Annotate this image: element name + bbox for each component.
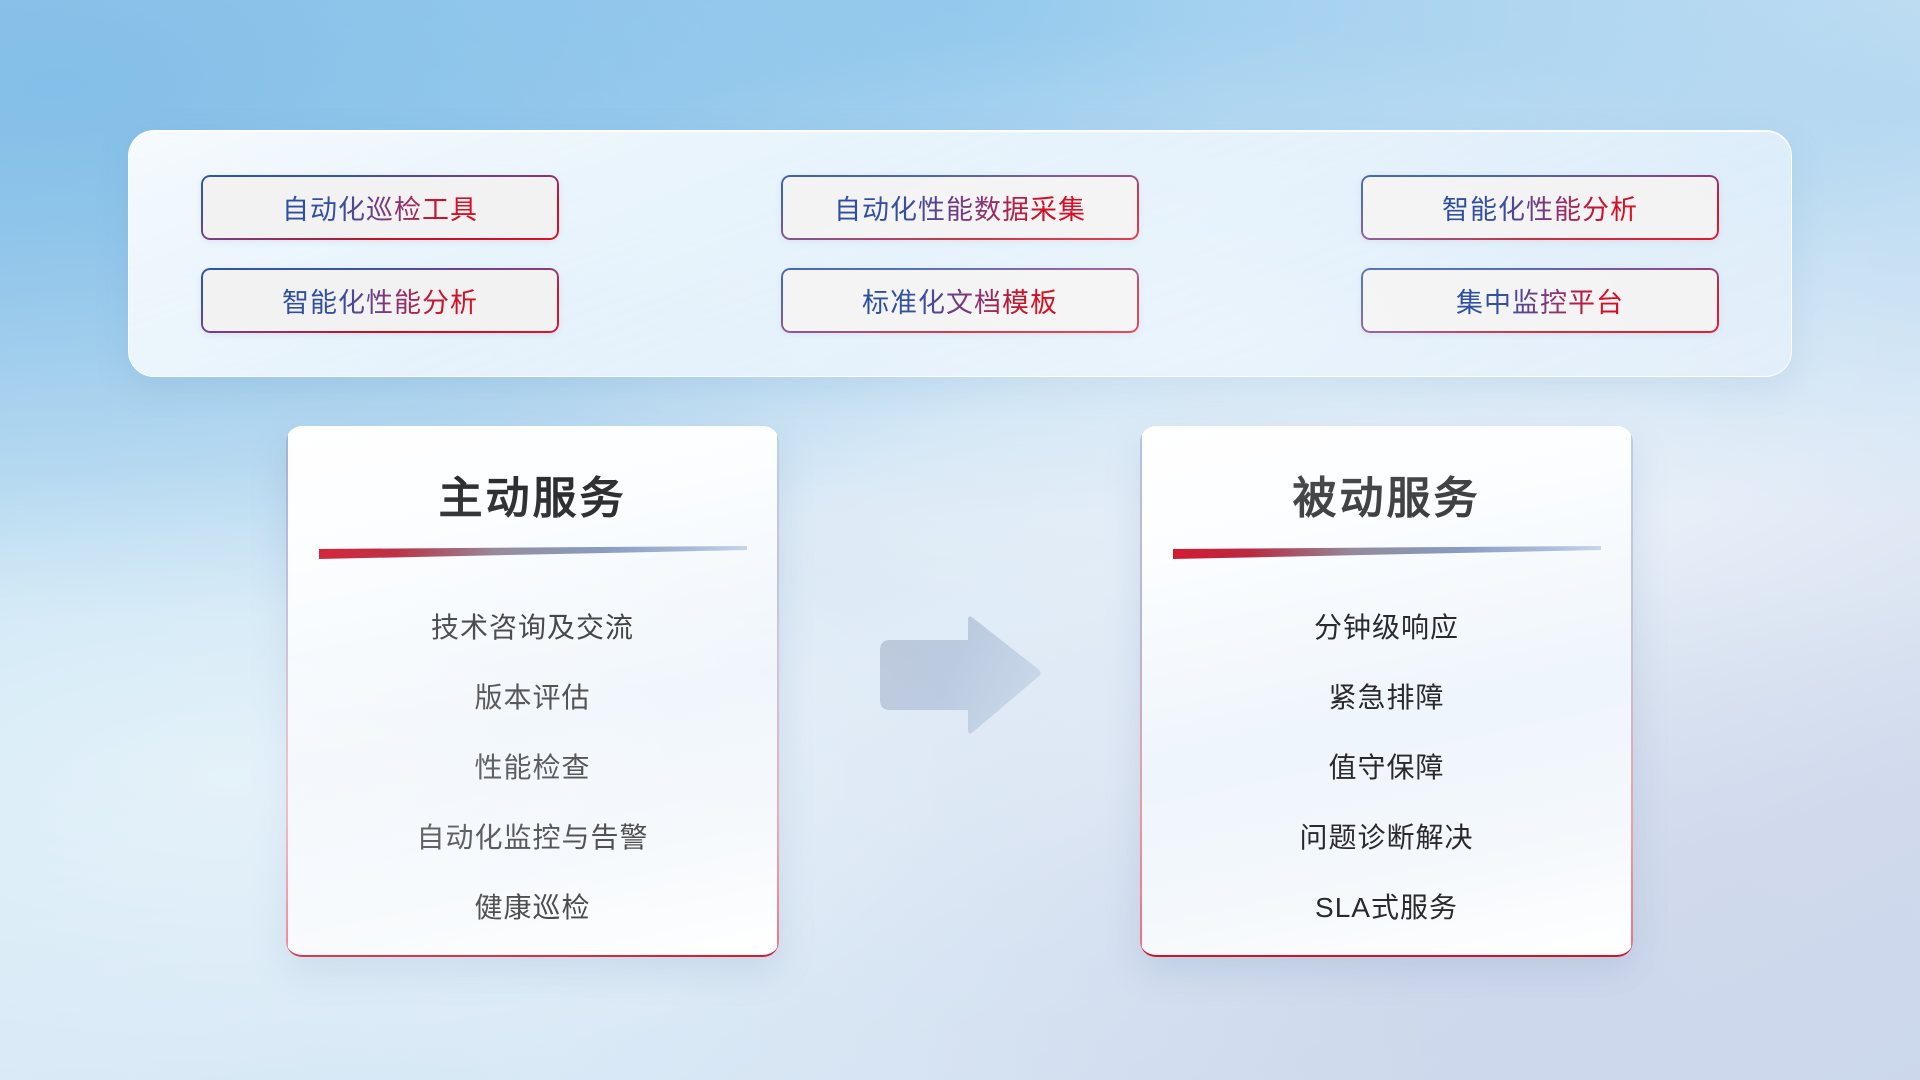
card-title: 被动服务 — [1140, 462, 1633, 526]
service-item-list: 技术咨询及交流 版本评估 性能检查 自动化监控与告警 健康巡检 — [286, 593, 779, 943]
list-item[interactable]: 技术咨询及交流 — [286, 593, 779, 663]
capability-tag-centralized-monitoring-platform[interactable]: 集中监控平台 — [1361, 268, 1719, 333]
list-item[interactable]: 值守保障 — [1140, 733, 1633, 803]
capability-tag-label: 集中监控平台 — [1456, 281, 1624, 320]
capability-tag-intelligent-performance-analysis[interactable]: 智能化性能分析 — [1361, 175, 1719, 240]
capability-tag-label: 标准化文档模板 — [862, 281, 1058, 320]
capability-panel: 自动化巡检工具 自动化性能数据采集 智能化性能分析 智能化性能分析 标准化文档模… — [128, 130, 1792, 377]
service-card-proactive[interactable]: 主动服务 技术咨询及交流 版本评估 性能检查 — [286, 426, 779, 957]
arrow-right-icon — [872, 614, 1042, 736]
capability-tag-automated-performance-data-collection[interactable]: 自动化性能数据采集 — [781, 175, 1139, 240]
list-item[interactable]: 自动化监控与告警 — [286, 803, 779, 873]
capability-tag-label: 智能化性能分析 — [1442, 188, 1638, 227]
capability-tag-label: 自动化巡检工具 — [282, 188, 478, 227]
capability-tag-standardized-doc-template[interactable]: 标准化文档模板 — [781, 268, 1139, 333]
capability-row-1: 自动化巡检工具 自动化性能数据采集 智能化性能分析 — [201, 175, 1719, 240]
card-divider — [1173, 546, 1601, 559]
capability-tag-automated-inspection-tool[interactable]: 自动化巡检工具 — [201, 175, 559, 240]
capability-tag-intelligent-performance-analysis-2[interactable]: 智能化性能分析 — [201, 268, 559, 333]
capability-row-2: 智能化性能分析 标准化文档模板 集中监控平台 — [201, 268, 1719, 333]
card-title: 主动服务 — [286, 462, 779, 526]
list-item[interactable]: 紧急排障 — [1140, 663, 1633, 733]
list-item[interactable]: 问题诊断解决 — [1140, 803, 1633, 873]
list-item[interactable]: 健康巡检 — [286, 873, 779, 943]
capability-tag-label: 自动化性能数据采集 — [834, 188, 1086, 227]
list-item[interactable]: 性能检查 — [286, 733, 779, 803]
list-item[interactable]: SLA式服务 — [1140, 873, 1633, 943]
capability-tag-label: 智能化性能分析 — [282, 281, 478, 320]
slide-canvas: 自动化巡检工具 自动化性能数据采集 智能化性能分析 智能化性能分析 标准化文档模… — [0, 0, 1920, 1080]
list-item[interactable]: 版本评估 — [286, 663, 779, 733]
list-item[interactable]: 分钟级响应 — [1140, 593, 1633, 663]
service-card-reactive[interactable]: 被动服务 分钟级响应 紧急排障 值守保障 — [1140, 426, 1633, 957]
card-divider — [319, 546, 747, 559]
service-item-list: 分钟级响应 紧急排障 值守保障 问题诊断解决 SLA式服务 — [1140, 593, 1633, 943]
